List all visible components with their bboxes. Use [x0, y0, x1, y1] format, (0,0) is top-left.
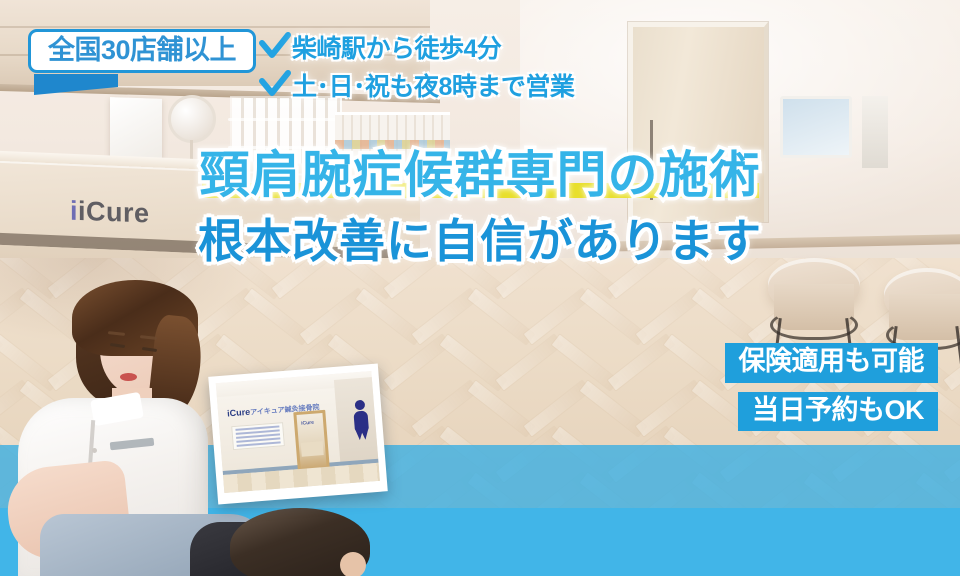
- store-count-badge: 全国30店舗以上: [28, 29, 256, 73]
- promo-banner: iiCure: [0, 0, 960, 576]
- cabinet-seam: [0, 26, 430, 28]
- desk-mirror: [168, 95, 216, 143]
- bullet-label: 土･日･祝も夜8時まで営業: [292, 67, 574, 103]
- headline-block: 頸肩腕症候群専門の施術 根本改善に自信があります: [0, 146, 960, 268]
- person-pictogram-icon: [351, 399, 372, 440]
- bullet-item: 土･日･祝も夜8時まで営業: [258, 68, 574, 102]
- check-icon: [258, 70, 292, 100]
- inset-door-logo: iCure: [301, 420, 314, 427]
- headline-line2: 根本改善に自信があります: [0, 214, 960, 268]
- inset-sign-sub: アイキュア: [250, 407, 285, 417]
- headline-line1: 頸肩腕症候群専門の施術: [200, 146, 761, 204]
- check-icon: [258, 32, 292, 62]
- shelf-board: [228, 118, 344, 121]
- bullet-item: 柴崎駅から徒歩4分: [258, 30, 574, 64]
- badge-label: 全国30店舗以上: [48, 37, 236, 64]
- headline-line1-wrap: 頸肩腕症候群専門の施術: [200, 146, 761, 204]
- inset-sign-main: iCure: [227, 407, 251, 419]
- pill-insurance: 保険適用も可能: [725, 343, 939, 383]
- bullet-label: 柴崎駅から徒歩4分: [292, 29, 501, 65]
- pill-sameday-booking: 当日予約もOK: [738, 392, 938, 432]
- bottom-bar: TV･ラジオ･雑誌 メディア掲載多数 女性に人気！ デザイナーズ空間: [0, 445, 960, 576]
- badge-box: 全国30店舗以上: [28, 29, 256, 73]
- benefit-pill-group: 保険適用も可能 当日予約もOK: [725, 343, 939, 440]
- feature-bullet-list: 柴崎駅から徒歩4分 土･日･祝も夜8時まで営業: [258, 30, 574, 106]
